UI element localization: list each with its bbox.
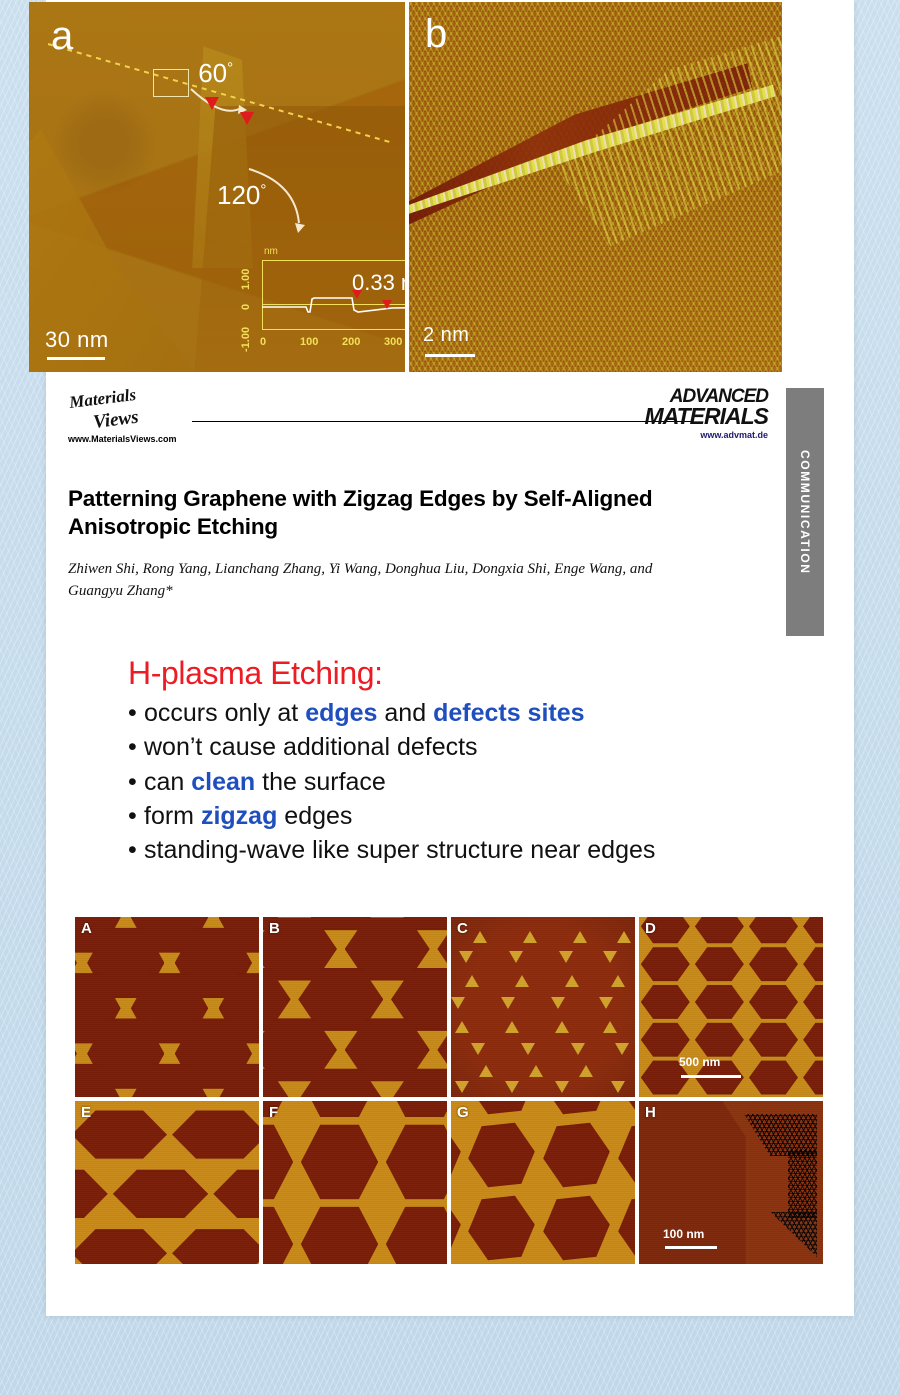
hexagon-array-A [75, 917, 259, 1097]
afm-panel-F: F [263, 1101, 447, 1264]
afm-panel-label-A: A [81, 920, 92, 937]
hexagon-array-E [75, 1101, 259, 1264]
bullet-dot-icon: • [128, 730, 144, 764]
author-list: Zhiwen Shi, Rong Yang, Lianchang Zhang, … [68, 559, 708, 603]
slide-heading: H-plasma Etching: [128, 655, 848, 692]
inset-x-tick-2: 200 [342, 336, 360, 348]
micrograph-panel-b: b 2 nm [409, 2, 782, 372]
bullet-highlight-text: defects sites [433, 699, 584, 727]
selection-square [153, 69, 189, 97]
hexagon-array-B [263, 917, 447, 1097]
red-marker-1-icon [205, 97, 219, 110]
hexagon-array-G [451, 1101, 635, 1264]
svg-text:Views: Views [92, 407, 140, 433]
afm-panel-label-G: G [457, 1104, 469, 1121]
bullet-text: the surface [255, 768, 386, 796]
header-divider [192, 421, 692, 422]
advanced-materials-url[interactable]: www.advmat.de [645, 430, 768, 440]
inset-x-tick-1: 100 [300, 336, 318, 348]
bullet-text: edges [277, 802, 352, 830]
afm-panel-A: A [75, 917, 259, 1097]
bullet-highlight-text: zigzag [201, 802, 277, 830]
bullet-text: standing-wave like super structure near … [144, 836, 655, 864]
inset-red-marker-2-icon [382, 300, 392, 309]
angle-arc-60-icon [187, 83, 257, 133]
angle-arc-120-icon [243, 165, 333, 245]
bullet-text: occurs only at [144, 699, 305, 727]
afm-panel-H: H 100 nm [639, 1101, 823, 1264]
afm-panel-label-C: C [457, 920, 468, 937]
afm-panel-label-B: B [269, 920, 280, 937]
inset-y-tick-1: 1.00 [240, 269, 252, 290]
bullet-text: won’t cause additional defects [144, 733, 478, 761]
inset-y-axis-label: nm [264, 246, 278, 257]
bullet-dot-icon: • [128, 765, 144, 799]
panel-label-b: b [425, 12, 447, 57]
slide-bullet-list: •occurs only at edges and defects sites•… [128, 696, 848, 867]
inset-step-height-value: 0.33 nm [352, 270, 405, 296]
afm-panel-B: B [263, 917, 447, 1097]
afm-scalebar-label-D: 500 nm [679, 1055, 720, 1069]
slide-summary-block: H-plasma Etching: •occurs only at edges … [128, 655, 848, 867]
bullet-dot-icon: • [128, 696, 144, 730]
materials-views-url[interactable]: www.MaterialsViews.com [68, 434, 177, 444]
inset-y-tick-3: -1.00 [240, 327, 252, 352]
red-marker-2-icon [240, 112, 254, 125]
afm-panel-D: D 500 nm [639, 917, 823, 1097]
inset-x-tick-0: 0 [260, 336, 266, 348]
afm-grid-row-2: E F G [75, 1101, 825, 1264]
journal-header: Materials Views www.MaterialsViews.com A… [68, 388, 768, 450]
afm-panel-G: G [451, 1101, 635, 1264]
page-title: Patterning Graphene with Zigzag Edges by… [68, 485, 758, 540]
afm-panel-C: C [451, 917, 635, 1097]
afm-panel-label-D: D [645, 920, 656, 937]
hexagon-array-F [263, 1101, 447, 1264]
bullet-dot-icon: • [128, 833, 144, 867]
inset-x-tick-3: 300 [384, 336, 402, 348]
advanced-materials-logo: ADVANCED MATERIALS www.advmat.de [645, 388, 768, 440]
afm-panel-grid: A B C [75, 917, 825, 1268]
bullet-text: form [144, 802, 201, 830]
scalebar-line-a [47, 357, 105, 360]
slide-bullet-item: •occurs only at edges and defects sites [128, 696, 848, 730]
communication-side-tab: COMMUNICATION [786, 388, 824, 636]
slide-bullet-item: •won’t cause additional defects [128, 730, 848, 764]
bullet-text: can [144, 768, 191, 796]
inset-height-profile-plot: nm 1.00 0 -1.00 0.33 nm 0 100 200 300 40… [234, 252, 405, 352]
micrograph-panel-a: a 60° 120° 30 nm nm 1.00 0 -1.00 [29, 2, 405, 372]
scalebar-line-b [425, 354, 475, 357]
slide-bullet-item: •form zigzag edges [128, 799, 848, 833]
inset-y-tick-2: 0 [240, 304, 252, 310]
afm-scalebar-line-H [665, 1246, 717, 1249]
bullet-highlight-text: edges [305, 699, 377, 727]
bullet-dot-icon: • [128, 799, 144, 833]
afm-panel-label-E: E [81, 1104, 91, 1121]
advanced-materials-line2: MATERIALS [645, 406, 768, 428]
slide-bullet-item: •standing-wave like super structure near… [128, 833, 848, 867]
bullet-highlight-text: clean [191, 768, 255, 796]
graphene-lattice-overlay-mid [788, 1150, 817, 1218]
panel-label-a: a [51, 14, 73, 59]
afm-panel-E: E [75, 1101, 259, 1264]
slide-bullet-item: •can clean the surface [128, 765, 848, 799]
scalebar-label-b: 2 nm [423, 324, 469, 347]
afm-panel-label-H: H [645, 1104, 656, 1121]
communication-side-tab-label: COMMUNICATION [798, 450, 812, 575]
afm-panel-label-F: F [269, 1104, 278, 1121]
afm-grid-row-1: A B C [75, 917, 825, 1097]
afm-scalebar-label-H: 100 nm [663, 1227, 704, 1241]
top-figure: a 60° 120° 30 nm nm 1.00 0 -1.00 [29, 2, 786, 372]
afm-scalebar-line-D [681, 1075, 741, 1078]
hexagon-array-D [639, 917, 823, 1097]
materials-views-logo-icon: Materials Views [68, 388, 186, 434]
bullet-text: and [377, 699, 433, 727]
scalebar-label-a: 30 nm [45, 327, 109, 353]
